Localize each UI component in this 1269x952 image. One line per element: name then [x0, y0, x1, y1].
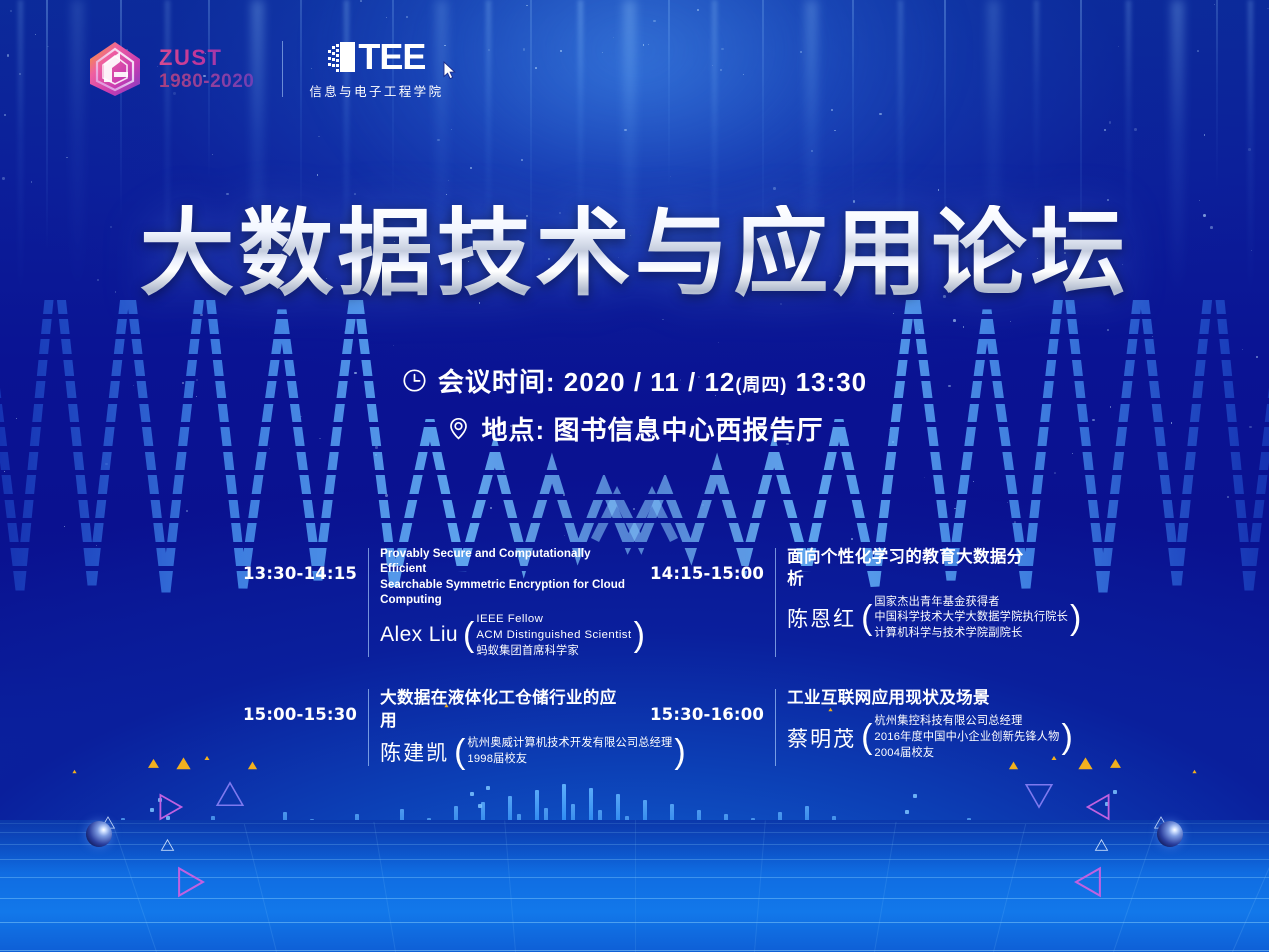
session-title-line: Provably Secure and Computationally Effi…: [380, 546, 628, 577]
speckle-dot: [624, 129, 626, 131]
equalizer-dot: [150, 808, 154, 812]
session-divider: [775, 548, 776, 657]
sphere-decoration: [1157, 821, 1183, 847]
equalizer-dot: [478, 804, 482, 808]
session-time: 15:30-16:00: [650, 687, 764, 724]
speaker-row: 陈恩红(国家杰出青年基金获得者中国科学技术大学大数据学院执行院长计算机科学与技术…: [787, 595, 1035, 643]
speckle-dot: [697, 9, 699, 11]
grid-vertical-line: [635, 820, 636, 952]
location-pin-icon: [446, 416, 471, 441]
speaker-name: 陈建凯: [380, 737, 449, 767]
schedule-item[interactable]: 13:30-14:15Provably Secure and Computati…: [243, 546, 628, 659]
triangle-filled-icon: [1109, 757, 1122, 770]
speaker-credential: 2016年度中国中小企业创新先锋人物: [874, 730, 1059, 746]
paren-open: (: [859, 724, 874, 751]
triangle-outline-icon: [1072, 865, 1106, 899]
equalizer-dot: [486, 786, 490, 790]
schedule-list: 13:30-14:15Provably Secure and Computati…: [243, 546, 1033, 768]
triangle-outline-icon: [173, 865, 207, 899]
speaker-credential: 杭州奥威计算机技术开发有限公司总经理: [467, 736, 672, 752]
speaker-credential: 蚂蚁集团首席科学家: [476, 644, 631, 660]
paren-open: (: [452, 739, 467, 766]
meeting-weekday: (周四): [735, 375, 787, 395]
speaker-name: 蔡明茂: [787, 723, 856, 753]
speckle-dot: [19, 73, 21, 75]
speaker-credentials: 杭州集控科技有限公司总经理2016年度中国中小企业创新先锋人物2004届校友: [874, 714, 1059, 762]
speckle-dot: [1134, 128, 1137, 131]
equalizer-dot: [470, 792, 474, 796]
paren-open: (: [461, 622, 476, 649]
meeting-location-value: 图书信息中心西报告厅: [553, 415, 823, 445]
triangle-filled-icon: [72, 769, 77, 774]
speckle-dot: [1204, 134, 1205, 135]
speaker-credential: 杭州集控科技有限公司总经理: [874, 714, 1059, 730]
light-streak: [392, 0, 394, 200]
session-divider: [368, 548, 369, 657]
speckle-dot: [2, 177, 5, 180]
speckle-dot: [448, 180, 449, 181]
speckle-dot: [47, 46, 48, 47]
speckle-dot: [226, 193, 229, 196]
meeting-date: 2020 / 11 / 12: [564, 367, 736, 397]
zust-years: 1980-2020: [159, 72, 254, 91]
speckle-dot: [879, 113, 881, 115]
schedule-item[interactable]: 15:30-16:00工业互联网应用现状及场景蔡明茂(杭州集控科技有限公司总经理…: [650, 687, 1035, 767]
session-time: 15:00-15:30: [243, 687, 357, 724]
speaker-row: 蔡明茂(杭州集控科技有限公司总经理2016年度中国中小企业创新先锋人物2004届…: [787, 714, 1035, 762]
speaker-row: 陈建凯(杭州奥威计算机技术开发有限公司总经理1998届校友): [380, 736, 628, 768]
pixel-block-icon: [327, 42, 355, 72]
speckle-dot: [1197, 50, 1199, 52]
session-time: 14:15-15:00: [650, 546, 764, 583]
triangle-outline-icon: [155, 792, 185, 822]
speckle-dot: [386, 17, 387, 18]
speaker-credential: 中国科学技术大学大数据学院执行院长: [874, 610, 1068, 626]
session-title: 面向个性化学习的教育大数据分析: [787, 546, 1035, 591]
speaker-credentials: 国家杰出青年基金获得者中国科学技术大学大数据学院执行院长计算机科学与技术学院副院…: [874, 595, 1068, 643]
light-streak: [668, 0, 670, 190]
paren-open: (: [859, 605, 874, 632]
speaker-credentials: IEEE FellowACM Distinguished Scientist蚂蚁…: [476, 611, 631, 659]
meeting-info: 会议时间: 2020 / 11 / 12(周四) 13:30 地点: 图书信息中…: [0, 362, 1269, 447]
speckle-dot: [560, 50, 562, 52]
triangle-filled-icon: [147, 757, 160, 770]
schedule-item[interactable]: 14:15-15:00面向个性化学习的教育大数据分析陈恩红(国家杰出青年基金获得…: [650, 546, 1035, 659]
session-title-line: Searchable Symmetric Encryption for Clou…: [380, 577, 628, 608]
zust-name: ZUST: [159, 47, 254, 69]
paren-close: ): [632, 622, 647, 649]
session-divider: [368, 689, 369, 765]
triangle-filled-icon: [204, 755, 210, 761]
mouse-cursor-icon: [443, 61, 457, 85]
meeting-location-label: 地点:: [482, 415, 546, 445]
header-logos: ZUST 1980-2020: [84, 38, 443, 100]
speckle-dot: [360, 0, 362, 2]
speckle-dot: [488, 49, 490, 51]
itee-word: TEE: [358, 39, 425, 75]
triangle-outline-icon: [160, 838, 175, 853]
speaker-credential: 2004届校友: [874, 746, 1059, 762]
session-body: 大数据在液体化工仓储行业的应用陈建凯(杭州奥威计算机技术开发有限公司总经理199…: [380, 687, 628, 767]
session-title: 工业互联网应用现状及场景: [787, 687, 1035, 709]
light-streak: [578, 0, 583, 230]
speckle-dot: [1109, 121, 1111, 123]
equalizer-dot: [913, 794, 917, 798]
sphere-decoration: [86, 821, 112, 847]
speckle-dot: [773, 187, 776, 190]
speaker-credential: 国家杰出青年基金获得者: [874, 595, 1068, 611]
speaker-name: Alex Liu: [380, 623, 458, 647]
triangle-outline-icon: [214, 779, 246, 811]
page-title: 大数据技术与应用论坛: [0, 205, 1269, 305]
meeting-time-line: 会议时间: 2020 / 11 / 12(周四) 13:30: [0, 362, 1269, 399]
meeting-time-label: 会议时间:: [438, 367, 556, 397]
speaker-credential: ACM Distinguished Scientist: [476, 627, 631, 643]
speckle-dot: [1104, 129, 1106, 131]
clock-icon: [402, 368, 427, 393]
speaker-credential: 计算机科学与技术学院副院长: [874, 626, 1068, 642]
itee-subtitle: 信息与电子工程学院: [309, 81, 443, 100]
light-streak: [852, 0, 854, 210]
triangle-filled-icon: [175, 755, 192, 772]
speckle-dot: [7, 54, 10, 57]
meeting-location-line: 地点: 图书信息中心西报告厅: [0, 410, 1269, 447]
schedule-item[interactable]: 15:00-15:30大数据在液体化工仓储行业的应用陈建凯(杭州奥威计算机技术开…: [243, 687, 628, 767]
paren-close: ): [1068, 605, 1083, 632]
session-body: Provably Secure and Computationally Effi…: [380, 546, 628, 659]
paren-close: ): [1060, 724, 1075, 751]
session-title: Provably Secure and Computationally Effi…: [380, 546, 628, 607]
meeting-location-text: 地点: 图书信息中心西报告厅: [482, 410, 824, 447]
session-divider: [775, 689, 776, 765]
triangle-outline-icon: [1094, 838, 1109, 853]
equalizer-dot: [905, 810, 909, 814]
vertical-divider: [282, 41, 283, 97]
session-time: 13:30-14:15: [243, 546, 357, 583]
speaker-credentials: 杭州奥威计算机技术开发有限公司总经理1998届校友: [467, 736, 672, 768]
meeting-clock: 13:30: [796, 367, 868, 397]
schedule-row: 15:00-15:30大数据在液体化工仓储行业的应用陈建凯(杭州奥威计算机技术开…: [243, 687, 1033, 767]
itee-logo: TEE 信息与电子工程学院: [309, 39, 443, 100]
triangle-filled-icon: [1077, 755, 1094, 772]
triangle-outline-icon: [1023, 779, 1055, 811]
speaker-row: Alex Liu(IEEE FellowACM Distinguished Sc…: [380, 611, 628, 659]
triangle-filled-icon: [1192, 769, 1197, 774]
triangle-outline-icon: [1084, 792, 1114, 822]
session-body: 面向个性化学习的教育大数据分析陈恩红(国家杰出青年基金获得者中国科学技术大学大数…: [787, 546, 1035, 642]
light-streak: [1216, 0, 1218, 190]
speckle-dot: [800, 51, 801, 52]
speaker-name: 陈恩红: [787, 603, 856, 633]
light-streak: [1034, 0, 1039, 200]
speckle-dot: [831, 109, 833, 111]
poster-canvas: ZUST 1980-2020: [0, 0, 1269, 952]
zust-cube-logo-icon: [84, 38, 146, 100]
speaker-credential: IEEE Fellow: [476, 611, 631, 627]
schedule-row: 13:30-14:15Provably Secure and Computati…: [243, 546, 1033, 659]
zust-wordmark: ZUST 1980-2020: [159, 47, 254, 91]
light-streak: [120, 0, 122, 220]
meeting-time-text: 会议时间: 2020 / 11 / 12(周四) 13:30: [438, 362, 867, 399]
speaker-credential: 1998届校友: [467, 752, 672, 768]
session-body: 工业互联网应用现状及场景蔡明茂(杭州集控科技有限公司总经理2016年度中国中小企…: [787, 687, 1035, 761]
speckle-dot: [602, 52, 603, 53]
session-title: 大数据在液体化工仓储行业的应用: [380, 687, 628, 732]
